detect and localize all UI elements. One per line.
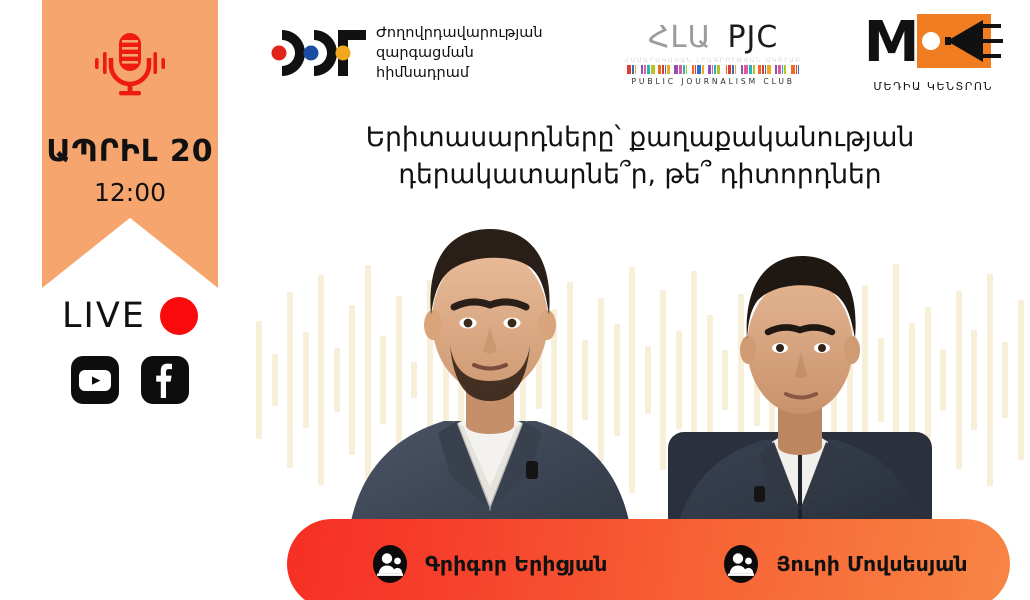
event-time: 12:00 [42,178,218,207]
speaker-name: Յուրի Մովսեսյան [776,552,967,576]
ddf-mark-icon [270,26,366,80]
person-badge-icon [721,544,761,584]
pjc-barcode-icon [627,65,799,74]
event-info-panel: ԱՊՐԻԼ 20 12:00 LIVE [0,0,250,600]
speaker-photo-right [650,210,950,565]
microphone-icon [42,14,218,114]
democracy-development-foundation-logo: Ժողովրդավարության զարգացման հիմնադրամ [270,23,543,83]
speaker-name-entry: Յուրի Մովսեսյան [721,544,967,584]
speaker-photo-left [330,175,650,565]
live-indicator: LIVE [42,296,218,336]
facebook-icon[interactable] [141,356,189,404]
pjc-english-abbr: PJC [727,20,778,55]
media-center-caption: ՄԵԴԻԱ ԿԵՆՏՐՈՆ [873,80,993,93]
megaphone-icon [917,12,1003,74]
title-line-2: դերակատարնե՞ր, թե՞ դիտորդներ [250,157,1030,194]
page-title: Երիտասարդները՝ քաղաքականության դերակատար… [250,120,1030,193]
public-journalism-club-logo: ՀԼԱ PJC ՀԱՍԱՐԱԿԱԿԱՆ ԼՐԱԳՐՈՒԹՅԱՆ ԱԿՈՒՄԲ P… [625,20,802,86]
speaker-name-bar: Գրիգոր Երիցյան Յուրի Մովսեսյան [287,519,1010,600]
speaker-name: Գրիգոր Երիցյան [425,552,607,576]
social-links [42,356,218,404]
pjc-abbreviations: ՀԼԱ PJC [648,20,778,55]
ddf-logo-text: Ժողովրդավարության զարգացման հիմնադրամ [376,23,543,83]
youtube-icon[interactable] [71,356,119,404]
livestream-announcement-card: Ժողովրդավարության զարգացման հիմնադրամ ՀԼ… [0,0,1030,600]
partner-logos: Ժողովրդավարության զարգացման հիմնադրամ ՀԼ… [250,0,1030,105]
media-center-monogram: M [864,21,917,66]
live-record-dot-icon [160,297,198,335]
pjc-caption: PUBLIC JOURNALISM CLUB [631,77,794,86]
speaker-name-entry: Գրիգոր Երիցյան [370,544,607,584]
date-ribbon: ԱՊՐԻԼ 20 12:00 [42,0,218,288]
media-center-logo: M ՄԵԴԻԱ ԿԵՆՏՐՈՆ [864,12,1003,93]
pjc-armenian-abbr: ՀԼԱ [648,20,711,55]
person-badge-icon [370,544,410,584]
media-center-mark: M [864,12,1003,74]
pjc-armenian-fullname: ՀԱՍԱՐԱԿԱԿԱՆ ԼՐԱԳՐՈՒԹՅԱՆ ԱԿՈՒՄԲ [625,57,802,64]
live-label: LIVE [62,296,146,336]
title-line-1: Երիտասարդները՝ քաղաքականության [250,120,1030,157]
event-date: ԱՊՐԻԼ 20 [42,134,218,169]
speaker-photos [250,175,1030,565]
